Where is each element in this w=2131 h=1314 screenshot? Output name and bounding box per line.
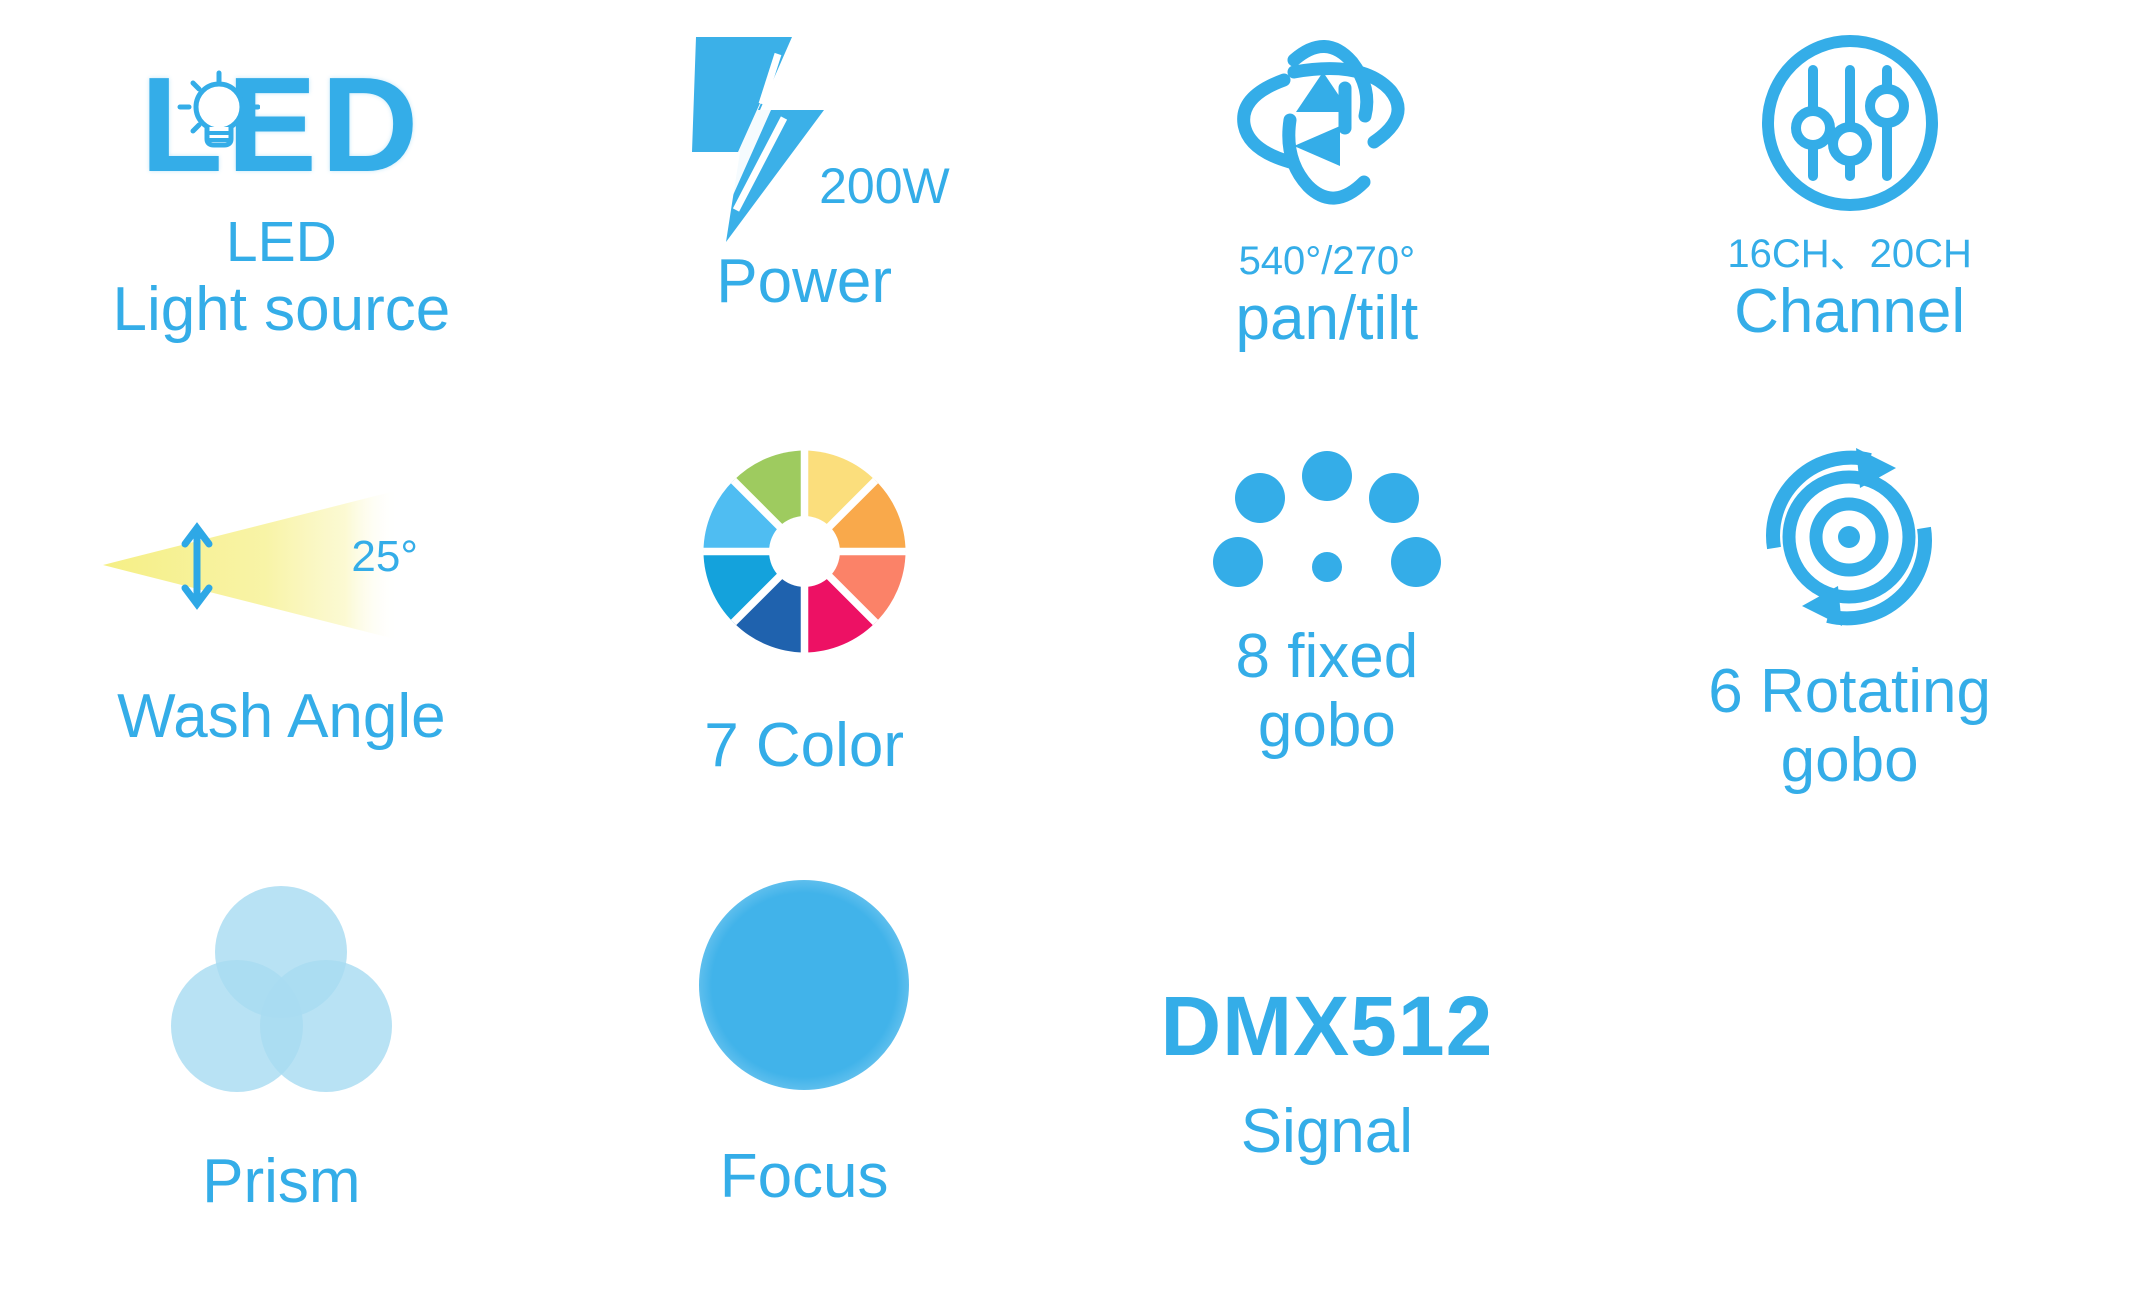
feature-signal: DMX512 Signal bbox=[1066, 850, 1589, 1314]
feature-label-line1: LED bbox=[112, 211, 450, 275]
feature-label-line1: Channel bbox=[1727, 277, 1972, 346]
gobo-icon-area bbox=[1212, 450, 1442, 600]
feature-label-line2: gobo bbox=[1708, 726, 1991, 795]
spec-grid: LED LED Light source bbox=[0, 0, 2131, 1304]
sliders-circle-icon bbox=[1755, 28, 1945, 218]
feature-fixed-gobo: 8 fixed gobo bbox=[1066, 430, 1589, 850]
wash-angle-value: 25° bbox=[351, 532, 418, 582]
power-value: 200W bbox=[819, 157, 950, 215]
feature-power: 200W Power bbox=[543, 10, 1066, 430]
feature-label-line1: 8 fixed bbox=[1236, 622, 1419, 691]
led-logo: LED bbox=[116, 55, 446, 195]
rotation-axes-icon bbox=[1222, 20, 1432, 225]
feature-label: 7 Color bbox=[704, 711, 904, 780]
feature-label-line1: Wash Angle bbox=[117, 682, 446, 751]
feature-focus: Focus bbox=[543, 850, 1066, 1314]
feature-label-line2: gobo bbox=[1236, 691, 1419, 760]
focus-glow-icon bbox=[699, 880, 909, 1090]
gobo-dots-icon bbox=[1212, 450, 1442, 600]
rotating-gobo-area bbox=[1752, 440, 1947, 635]
feature-label-line1: pan/tilt bbox=[1236, 284, 1419, 353]
feature-channel: 16CH、20CH Channel bbox=[1588, 10, 2111, 430]
feature-led-light-source: LED LED Light source bbox=[20, 10, 543, 430]
channel-value: 16CH、20CH bbox=[1727, 232, 1972, 277]
channel-icon-area bbox=[1755, 28, 1945, 218]
feature-label: 8 fixed gobo bbox=[1236, 622, 1419, 761]
feature-rotating-gobo: 6 Rotating gobo bbox=[1588, 430, 2111, 850]
feature-label-line1: Focus bbox=[720, 1142, 889, 1211]
pantilt-value: 540°/270° bbox=[1236, 239, 1419, 284]
prism-circles-icon bbox=[169, 880, 394, 1095]
feature-label-line1: Power bbox=[716, 247, 892, 316]
feature-label-line1: 6 Rotating bbox=[1708, 657, 1991, 726]
feature-label: Wash Angle bbox=[117, 682, 446, 751]
power-icon-area: 200W bbox=[639, 32, 969, 247]
feature-label: 6 Rotating gobo bbox=[1708, 657, 1991, 796]
feature-label: Signal bbox=[1241, 1097, 1413, 1166]
led-logo-text: LED bbox=[116, 55, 446, 195]
empty-cell bbox=[1588, 850, 2111, 1314]
feature-label-line1: Prism bbox=[202, 1147, 360, 1216]
feature-label: Prism bbox=[202, 1147, 360, 1216]
feature-pan-tilt: 540°/270° pan/tilt bbox=[1066, 10, 1589, 430]
feature-label: Power bbox=[716, 247, 892, 316]
wash-icon-area: 25° bbox=[101, 470, 461, 660]
feature-label: 16CH、20CH Channel bbox=[1727, 232, 1972, 346]
feature-label: Focus bbox=[720, 1142, 889, 1211]
rotating-gobo-icon bbox=[1752, 440, 1947, 635]
feature-wash-angle: 25° Wash Angle bbox=[20, 430, 543, 850]
feature-label: 540°/270° pan/tilt bbox=[1236, 239, 1419, 353]
feature-label-line1: 7 Color bbox=[704, 711, 904, 780]
signal-value: DMX512 bbox=[1160, 978, 1493, 1075]
feature-label: LED Light source bbox=[112, 211, 450, 344]
feature-prism: Prism bbox=[20, 850, 543, 1314]
feature-color: 7 Color bbox=[543, 430, 1066, 850]
color-wheel-icon bbox=[697, 444, 912, 659]
color-wheel-area bbox=[697, 444, 912, 659]
pantilt-icon-area bbox=[1222, 20, 1432, 225]
feature-label-line1: Signal bbox=[1241, 1097, 1413, 1166]
light-bulb-icon bbox=[174, 69, 260, 161]
feature-label-line2: Light source bbox=[112, 275, 450, 344]
prism-icon-area bbox=[169, 880, 394, 1095]
